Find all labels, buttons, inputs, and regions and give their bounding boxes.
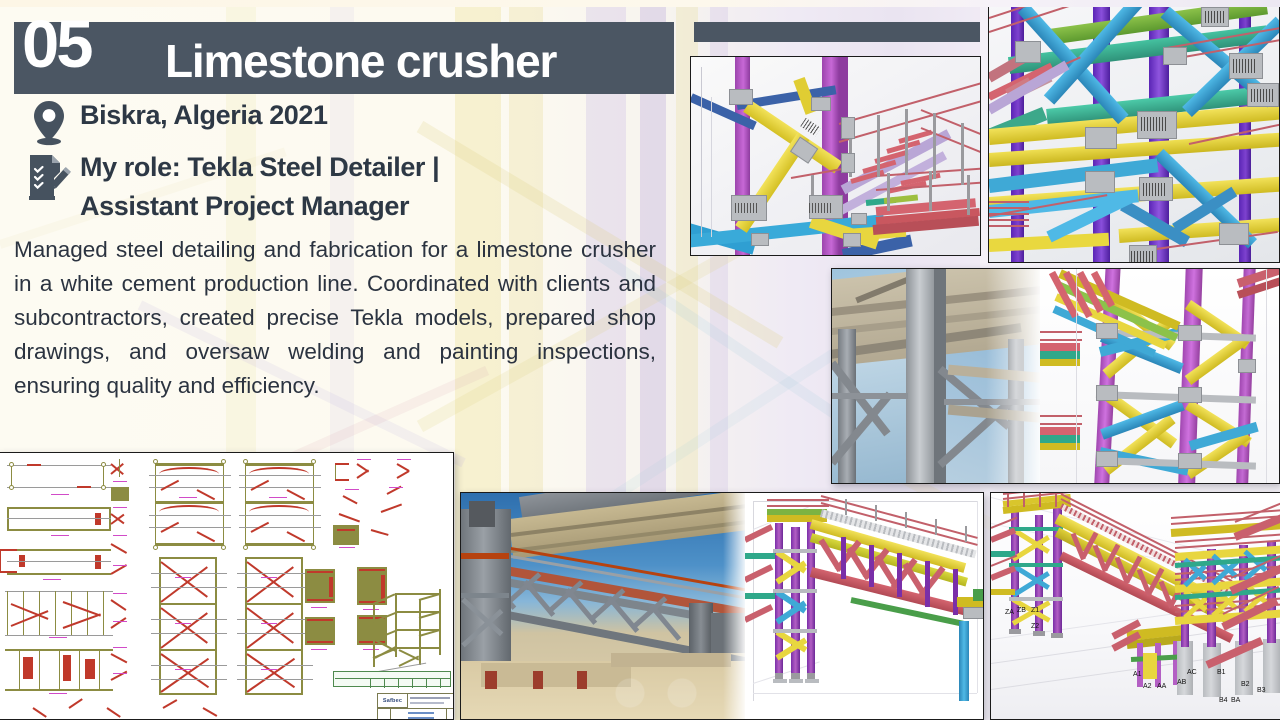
project-location: Biskra, Algeria 2021 <box>80 96 328 135</box>
tekla-model-crusher-tower <box>1040 269 1280 483</box>
portfolio-slide: 05 Limestone crusher Biskra, Algeria 202… <box>0 0 1280 720</box>
figure-tekla-model-overall-plant: ZA ZB Z1 Z2 A1 A2 AA AB AC B1 B2 B3 B4 B… <box>990 492 1280 720</box>
title-banner-right-accent <box>694 22 980 42</box>
figure-tekla-model-stair-tower-detail <box>690 56 981 256</box>
drawing-3d-overview <box>361 581 453 681</box>
project-description: Managed steel detailing and fabrication … <box>14 233 656 403</box>
site-photograph-crusher-tower <box>832 269 1040 483</box>
site-photograph-conveyor-bridge <box>461 493 745 719</box>
meta-row-location: Biskra, Algeria 2021 <box>18 96 668 146</box>
grid-label-B1: B1 <box>1217 669 1226 676</box>
figure-photo-vs-model-crusher-tower <box>831 268 1280 484</box>
figure-tekla-model-beam-connections <box>988 0 1280 263</box>
grid-label-Z1: Z1 <box>1031 607 1039 614</box>
location-pin-icon <box>18 96 80 146</box>
figure-photo-vs-model-conveyor-bridge <box>460 492 984 720</box>
grid-label-ZB: ZB <box>1017 607 1026 614</box>
checklist-pencil-icon <box>18 148 80 202</box>
project-role: My role: Tekla Steel Detailer | Assistan… <box>80 148 439 226</box>
project-meta: Biskra, Algeria 2021 <box>18 96 668 228</box>
grid-label-A1: A1 <box>1133 671 1142 678</box>
grid-label-AA: AA <box>1157 683 1166 690</box>
drawing-company-name: Safbec <box>383 698 402 704</box>
project-role-line1: My role: Tekla Steel Detailer | <box>80 148 439 187</box>
tekla-model-conveyor-bridge <box>745 493 984 719</box>
drawing-title-block: Safbec <box>377 693 454 720</box>
grid-label-B2: B2 <box>1241 681 1250 688</box>
drawing-revision-table <box>333 671 451 687</box>
grid-label-A2: A2 <box>1143 683 1152 690</box>
top-edge-strip <box>0 0 1280 7</box>
grid-label-ZA: ZA <box>1005 609 1014 616</box>
project-role-line2: Assistant Project Manager <box>80 187 439 226</box>
page-title: Limestone crusher <box>165 36 556 86</box>
grid-label-AB: AB <box>1177 679 1186 686</box>
meta-row-role: My role: Tekla Steel Detailer | Assistan… <box>18 148 668 226</box>
grid-label-B4: B4 <box>1219 697 1228 704</box>
grid-label-B3: B3 <box>1257 687 1266 694</box>
figure-tekla-shop-drawing-sheet: Safbec <box>0 452 454 720</box>
grid-label-Z2: Z2 <box>1031 623 1039 630</box>
grid-label-BA: BA <box>1231 697 1240 704</box>
grid-label-AC: AC <box>1187 669 1197 676</box>
slide-number: 05 <box>22 14 91 76</box>
